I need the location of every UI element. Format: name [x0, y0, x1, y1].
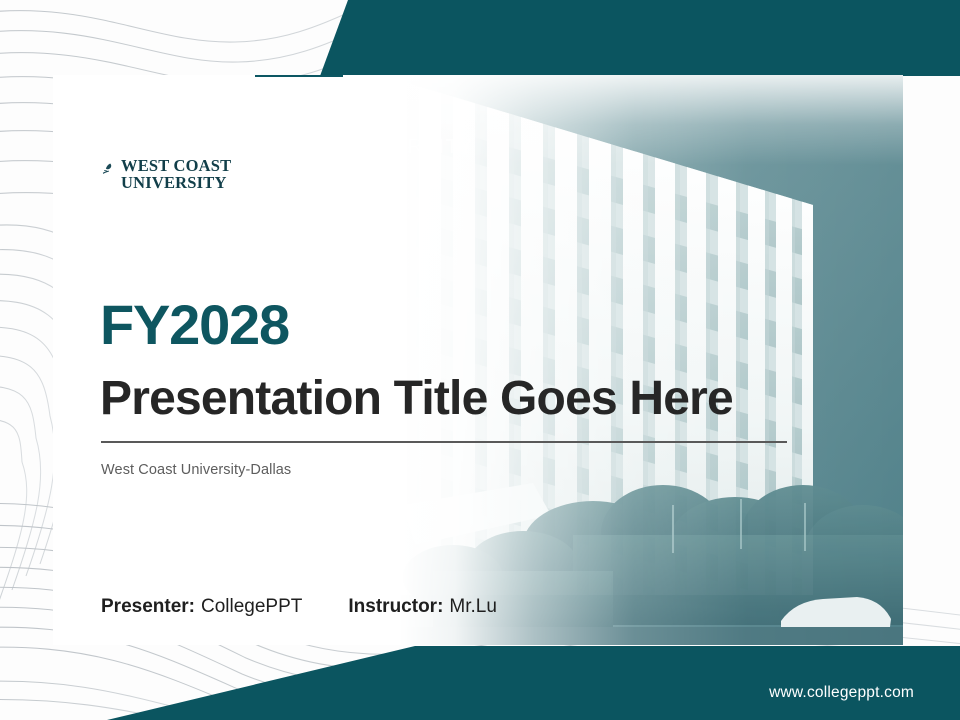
presenter-label: Presenter:: [101, 596, 195, 618]
card-content: WEST COAST UNIVERSITY FY2028 Presentatio…: [53, 75, 903, 645]
logo-line-2: UNIVERSITY: [121, 175, 231, 192]
torch-leaf-icon: [101, 162, 116, 177]
university-logo: WEST COAST UNIVERSITY: [101, 158, 231, 192]
byline: Presenter: CollegePPT Instructor: Mr.Lu: [101, 596, 497, 618]
presentation-slide: IVERSITY: [0, 0, 960, 720]
presenter-value: CollegePPT: [201, 596, 302, 618]
subtitle: West Coast University-Dallas: [101, 462, 291, 478]
university-logo-text: WEST COAST UNIVERSITY: [121, 158, 231, 192]
instructor-value: Mr.Lu: [449, 596, 497, 618]
instructor-label: Instructor:: [348, 596, 443, 618]
fiscal-year-label: FY2028: [100, 297, 289, 353]
page-title: Presentation Title Goes Here: [100, 375, 733, 423]
title-divider: [101, 441, 787, 443]
slide-card: IVERSITY: [53, 75, 903, 645]
footer-website-url: www.collegeppt.com: [769, 684, 914, 702]
